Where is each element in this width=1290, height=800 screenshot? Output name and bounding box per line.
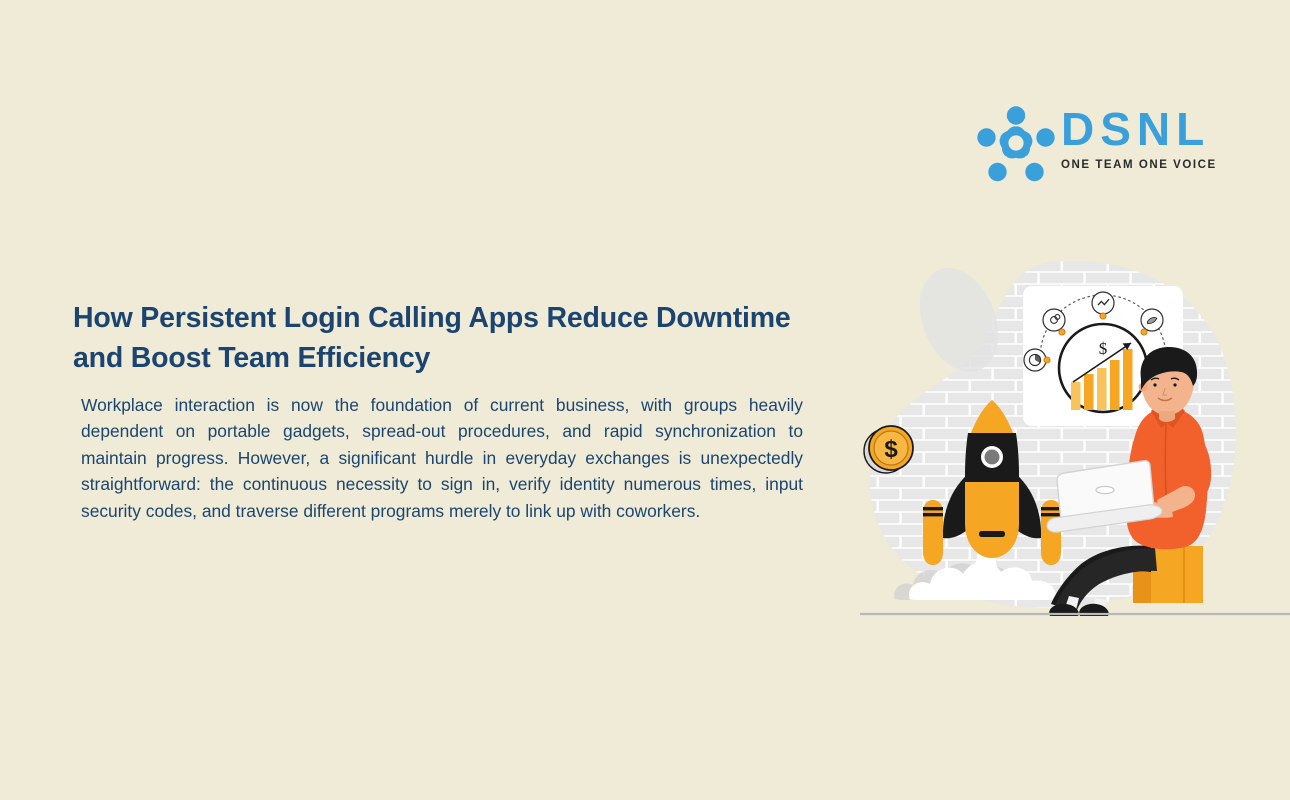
business-growth-rocket-launch-illustration: $ $ xyxy=(855,248,1290,620)
logo-wordmark: DSNL ONE TEAM ONE VOICE xyxy=(1061,98,1213,190)
page-title: How Persistent Login Calling Apps Reduce… xyxy=(73,298,808,378)
logo-tagline: ONE TEAM ONE VOICE xyxy=(1061,158,1213,172)
gears-icon xyxy=(1043,309,1065,331)
logo-name: DSNL xyxy=(1061,98,1213,160)
banner-page: DSNL ONE TEAM ONE VOICE How Persistent L… xyxy=(0,0,1290,800)
svg-text:$: $ xyxy=(1099,339,1108,358)
svg-text:$: $ xyxy=(884,436,898,463)
article-text-column: How Persistent Login Calling Apps Reduce… xyxy=(73,298,808,524)
dsnl-logo[interactable]: DSNL ONE TEAM ONE VOICE xyxy=(975,98,1215,190)
article-body: Workplace interaction is now the foundat… xyxy=(81,392,803,524)
five-person-star-logo-icon xyxy=(975,102,1057,184)
